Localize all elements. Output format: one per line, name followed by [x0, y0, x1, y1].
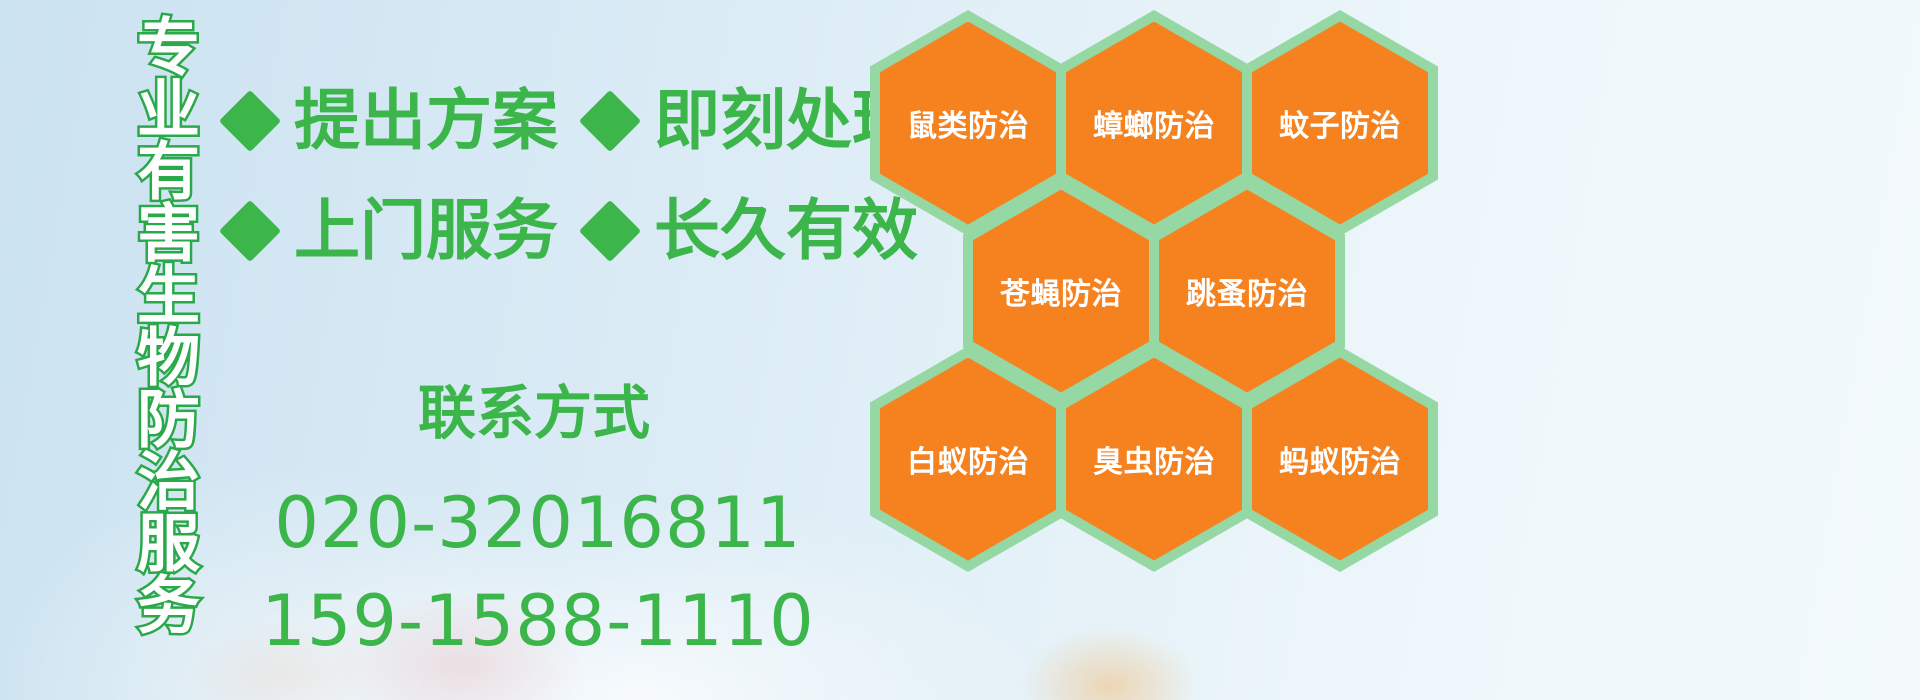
feature-row-1: 提出方案 即刻处理: [228, 88, 918, 154]
service-hex-inner: 苍蝇防治: [973, 190, 1149, 393]
service-hex-inner: 跳蚤防治: [1159, 190, 1335, 393]
service-hex-inner: 蚂蚁防治: [1252, 358, 1428, 561]
feature-label-onsite: 上门服务: [294, 198, 558, 264]
service-label-termite: 白蚁防治: [907, 437, 1029, 481]
service-label-bedbug: 臭虫防治: [1093, 437, 1215, 481]
service-hex-inner: 白蚁防治: [880, 358, 1056, 561]
vertical-slogan: 专业有害生物防治服务: [104, 14, 196, 634]
service-hex-inner: 鼠类防治: [880, 22, 1056, 225]
phone-mobile[interactable]: 159-1588-1110: [228, 586, 848, 656]
service-label-flea: 跳蚤防治: [1186, 269, 1308, 313]
pest-control-banner: 专业有害生物防治服务 提出方案 即刻处理 上门服务 长久有效 联系方式 020-…: [0, 0, 1920, 700]
phone-landline[interactable]: 020-32016811: [228, 488, 848, 558]
contact-block: 联系方式 020-32016811 159-1588-1110: [228, 384, 848, 656]
diamond-bullet-icon: [219, 200, 281, 262]
service-hex-inner: 蟑螂防治: [1066, 22, 1242, 225]
diamond-bullet-icon: [579, 90, 641, 152]
service-label-ant: 蚂蚁防治: [1279, 437, 1401, 481]
service-hex-inner: 蚊子防治: [1252, 22, 1428, 225]
service-label-mosquito: 蚊子防治: [1279, 101, 1401, 145]
feature-row-2: 上门服务 长久有效: [228, 198, 918, 264]
diamond-bullet-icon: [219, 90, 281, 152]
contact-title: 联系方式: [220, 384, 848, 442]
service-hex-inner: 臭虫防治: [1066, 358, 1242, 561]
service-label-cockroach: 蟑螂防治: [1093, 101, 1215, 145]
service-label-fly: 苍蝇防治: [1000, 269, 1122, 313]
diamond-bullet-icon: [579, 200, 641, 262]
service-label-rodent: 鼠类防治: [907, 101, 1029, 145]
service-honeycomb: 鼠类防治 蟑螂防治 蚊子防治 苍蝇防治 跳蚤防治 白蚁防: [860, 0, 1460, 700]
feature-label-proposal: 提出方案: [294, 88, 558, 154]
